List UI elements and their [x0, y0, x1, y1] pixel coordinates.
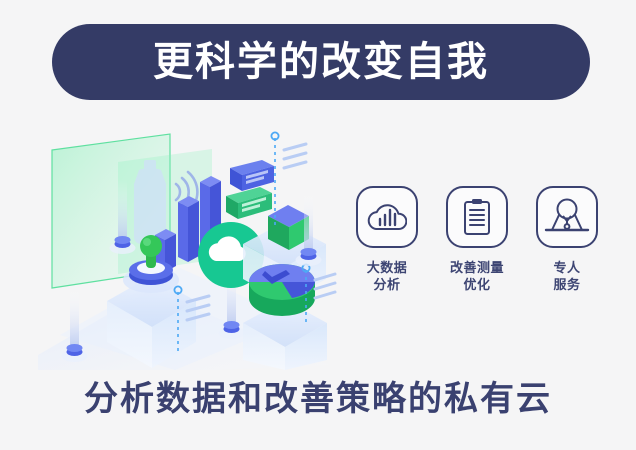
promo-banner-image: 更科学的改变自我	[0, 0, 636, 450]
cloud-bar-chart-icon	[356, 186, 418, 248]
feature-label-line1: 改善测量	[450, 260, 504, 277]
feature-label-line2: 优化	[450, 277, 504, 294]
feature-label: 专人 服务	[553, 260, 580, 294]
data-tag-green	[226, 187, 272, 219]
feature-label-line1: 大数据	[367, 260, 408, 277]
header-banner: 更科学的改变自我	[52, 24, 590, 100]
feature-list: 大数据 分析 改善测量 优化	[350, 186, 604, 331]
bar-item	[178, 196, 199, 262]
feature-label: 改善测量 优化	[450, 260, 504, 294]
clipboard-icon	[446, 186, 508, 248]
isometric-illustration	[30, 120, 340, 370]
feature-item-big-data-analysis: 大数据 分析	[350, 186, 424, 294]
feature-item-measurement-optimization: 改善测量 优化	[440, 186, 514, 294]
feature-label: 大数据 分析	[367, 260, 408, 294]
feature-label-line1: 专人	[553, 260, 580, 277]
feature-item-dedicated-service: 专人 服务	[530, 186, 604, 294]
tagline: 分析数据和改善策略的私有云	[0, 382, 636, 416]
header-banner-title: 更科学的改变自我	[153, 42, 489, 82]
bottle-silhouette	[134, 160, 166, 244]
feature-label-line2: 服务	[553, 277, 580, 294]
customer-service-agent-icon	[536, 186, 598, 248]
data-tag-blue	[230, 160, 274, 191]
feature-label-line2: 分析	[367, 277, 408, 294]
